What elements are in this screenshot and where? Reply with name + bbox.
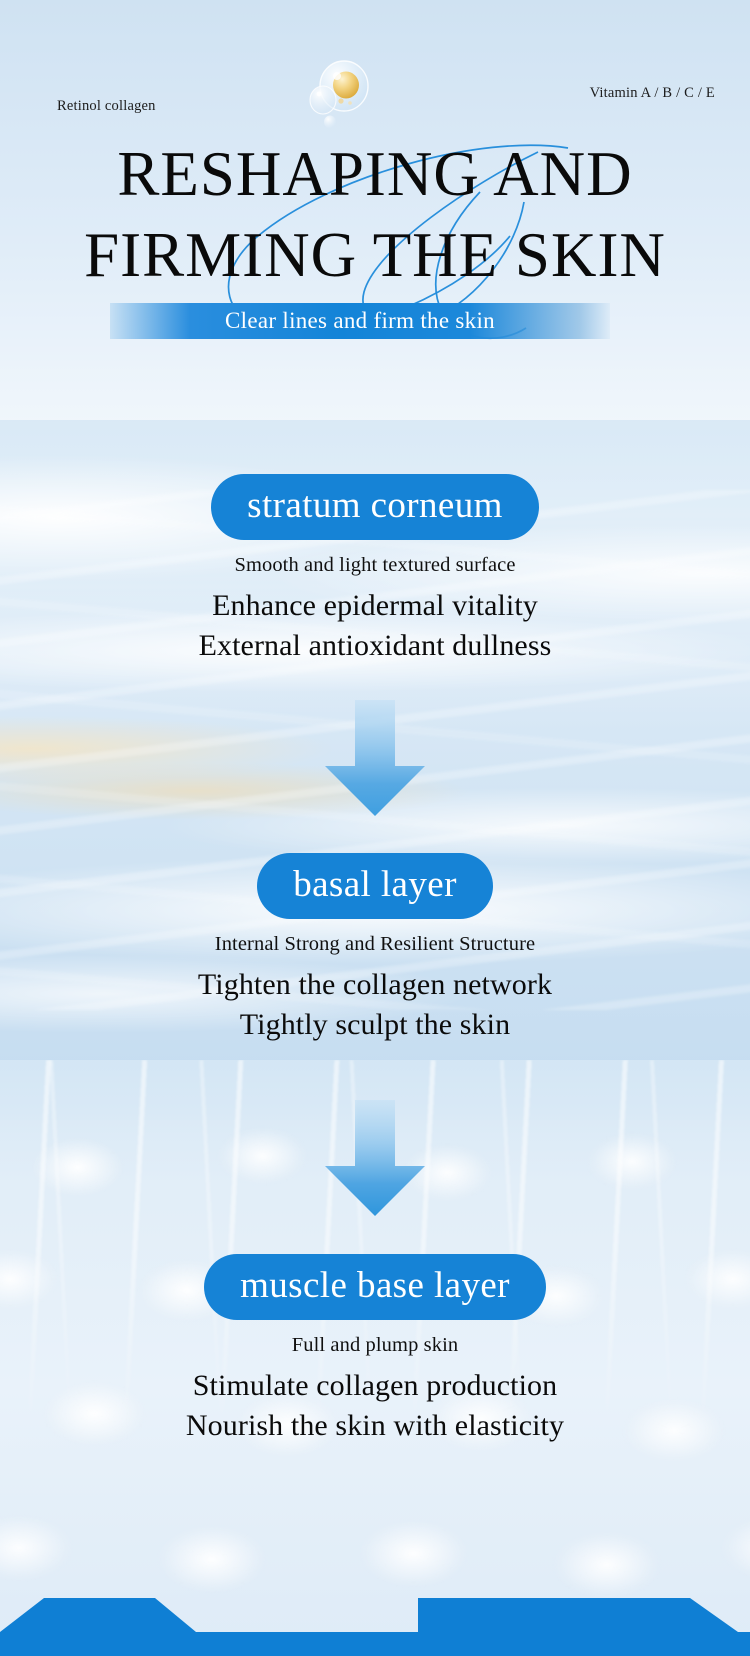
section-3-line-1: Stimulate collagen production <box>0 1366 750 1406</box>
section-1-line-1: Enhance epidermal vitality <box>0 586 750 626</box>
section-stratum-corneum: stratum corneum Smooth and light texture… <box>0 474 750 666</box>
arrow-down-icon <box>321 700 429 821</box>
arrow-down-icon <box>321 1100 429 1221</box>
section-2-benefit-lines: Tighten the collagen network Tightly scu… <box>0 965 750 1045</box>
title-line-2: FIRMING THE SKIN <box>0 215 750 296</box>
subtitle-banner-text: Clear lines and firm the skin <box>225 308 495 334</box>
subtitle-banner: Clear lines and firm the skin <box>110 303 610 339</box>
section-3-pill-label: muscle base layer <box>204 1254 546 1320</box>
page-title: RESHAPING AND FIRMING THE SKIN <box>0 134 750 297</box>
section-2-subtitle: Internal Strong and Resilient Structure <box>0 933 750 956</box>
serum-droplet-icon <box>292 56 384 134</box>
title-line-1: RESHAPING AND <box>0 134 750 215</box>
section-2-line-1: Tighten the collagen network <box>0 965 750 1005</box>
infographic-page: Retinol collagen Vitamin A / B / C / E <box>0 0 750 1656</box>
section-3-subtitle: Full and plump skin <box>0 1334 750 1357</box>
section-3-line-2: Nourish the skin with elasticity <box>0 1406 750 1446</box>
kicker-vitamins: Vitamin A / B / C / E <box>590 85 715 102</box>
section-basal-layer: basal layer Internal Strong and Resilien… <box>0 853 750 1045</box>
kicker-retinol-collagen: Retinol collagen <box>57 98 156 115</box>
section-1-pill-label: stratum corneum <box>211 474 539 540</box>
section-1-line-2: External antioxidant dullness <box>0 626 750 666</box>
section-2-line-2: Tightly sculpt the skin <box>0 1005 750 1045</box>
section-2-pill-label: basal layer <box>257 853 493 919</box>
section-1-subtitle: Smooth and light textured surface <box>0 554 750 577</box>
section-muscle-base-layer: muscle base layer Full and plump skin St… <box>0 1254 750 1446</box>
footer-banner-shape <box>0 1582 750 1656</box>
section-3-benefit-lines: Stimulate collagen production Nourish th… <box>0 1366 750 1446</box>
section-1-benefit-lines: Enhance epidermal vitality External anti… <box>0 586 750 666</box>
